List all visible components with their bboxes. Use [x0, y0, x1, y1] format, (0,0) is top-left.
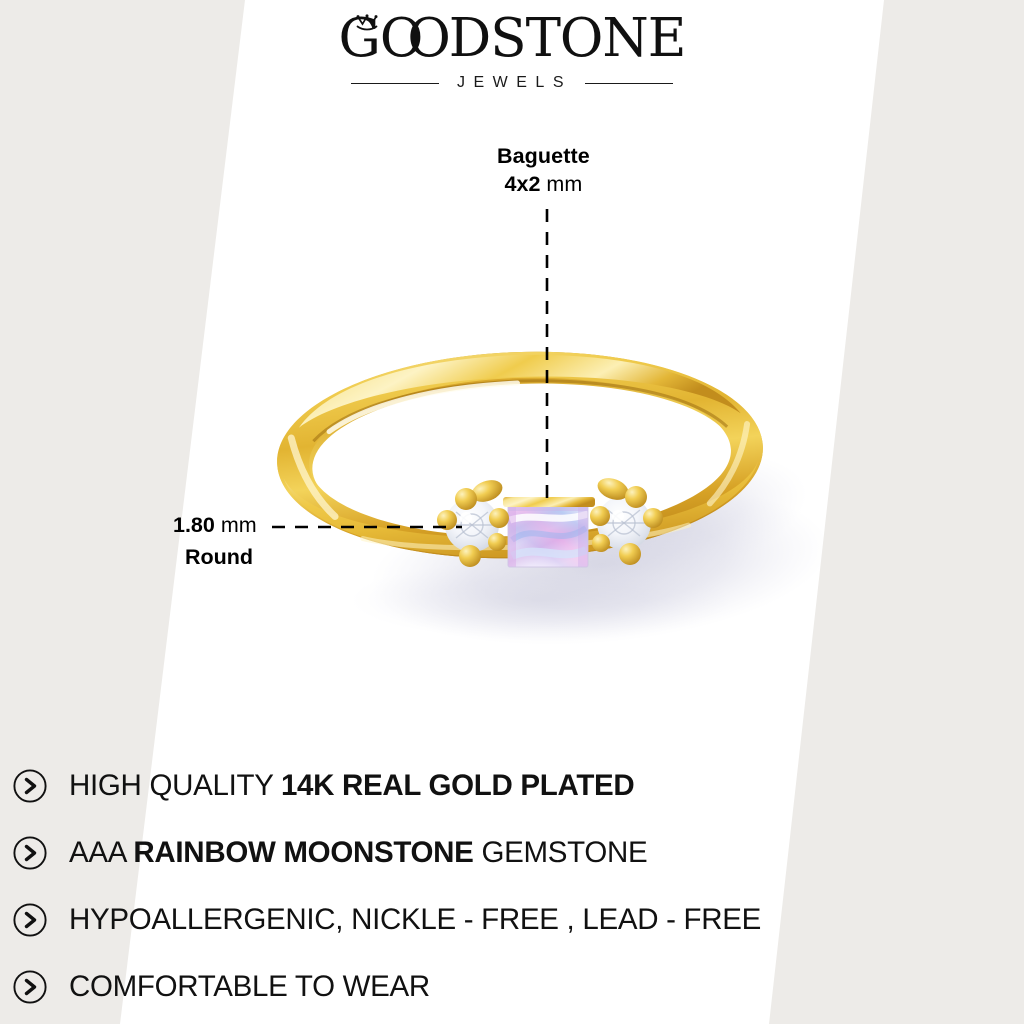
callout-baguette-shape: Baguette [497, 142, 590, 170]
callout-baguette-size: 4x2 [505, 172, 541, 196]
product-image-canvas: GOODSTONE JEWELS [0, 0, 1024, 1024]
callout-baguette: Baguette 4x2 mm [497, 142, 590, 199]
callout-baguette-unit: mm [546, 172, 582, 196]
feature-list: HIGH QUALITY 14K REAL GOLD PLATED AAA RA… [13, 752, 1013, 1020]
callout-round-unit: mm [221, 513, 257, 537]
callout-round-shape: Round [173, 543, 265, 571]
list-item-label: AAA RAINBOW MOONSTONE GEMSTONE [69, 836, 647, 870]
chevron-circle-icon [13, 769, 47, 803]
chevron-circle-icon [13, 903, 47, 937]
list-item: AAA RAINBOW MOONSTONE GEMSTONE [13, 819, 1013, 886]
list-item-label: HIGH QUALITY 14K REAL GOLD PLATED [69, 769, 634, 803]
list-item: COMFORTABLE TO WEAR [13, 953, 1013, 1020]
callout-round-size: 1.80 [173, 513, 215, 537]
gemstone-baguette-moonstone [503, 497, 595, 567]
callout-round: 1.80 mm Round [173, 511, 265, 572]
list-item: HYPOALLERGENIC, NICKLE - FREE , LEAD - F… [13, 886, 1013, 953]
list-item-label: COMFORTABLE TO WEAR [69, 970, 430, 1004]
list-item: HIGH QUALITY 14K REAL GOLD PLATED [13, 752, 1013, 819]
list-item-label: HYPOALLERGENIC, NICKLE - FREE , LEAD - F… [69, 903, 761, 937]
chevron-circle-icon [13, 970, 47, 1004]
chevron-circle-icon [13, 836, 47, 870]
